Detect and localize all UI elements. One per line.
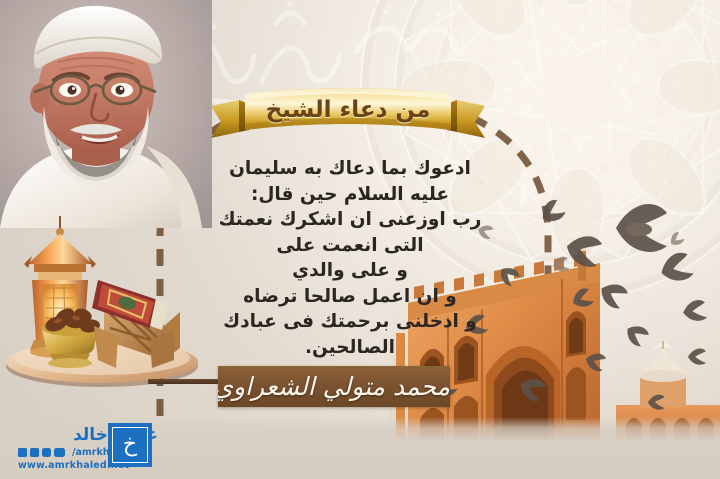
- signature-plaque: محمد متولي الشعراوي: [218, 366, 450, 407]
- youtube-icon[interactable]: [54, 448, 65, 457]
- dua-line: و على والدي: [178, 258, 522, 284]
- rosette-petal: [549, 0, 605, 7]
- banner-title: من دعاء الشيخ: [209, 95, 487, 125]
- signature-rule: [148, 379, 218, 384]
- dua-line: الصالحين.: [178, 335, 522, 361]
- lantern-icon: [24, 216, 96, 358]
- dua-text-block: ادعوك بما دعاك به سليمان عليه السلام حين…: [178, 156, 522, 360]
- dates-bowl: [42, 305, 101, 368]
- rosette-ring-4: [480, 0, 670, 180]
- twitter-icon[interactable]: [30, 448, 39, 457]
- dua-line: عليه السلام حين قال:: [178, 182, 522, 208]
- chhatri-dome: [639, 341, 687, 407]
- signature-name: محمد متولي الشعراوي: [218, 369, 450, 405]
- dua-line: و ادخلنى برحمتك فى عبادك: [178, 309, 522, 335]
- title-ribbon-banner: من دعاء الشيخ: [209, 86, 487, 138]
- rosette-petal: [433, 0, 540, 50]
- dua-line: ادعوك بما دعاك به سليمان: [178, 156, 522, 182]
- footer-bar: عمرو خالد /amrkhaled www.amrkhaled.net خ: [0, 417, 720, 479]
- quran-rehal: [92, 280, 180, 368]
- instagram-icon[interactable]: [42, 448, 51, 457]
- rosette-petal: [549, 167, 605, 263]
- ramadan-stilllife: [0, 208, 203, 390]
- rosette-petal: [614, 124, 720, 231]
- dua-line: التى انعمت على: [178, 233, 522, 259]
- dua-line: و ان اعمل صالحا ترضاه: [178, 284, 522, 310]
- poster-canvas: من دعاء الشيخ ادعوك بما دعاك به سليمان ع…: [0, 0, 720, 479]
- logo-inner-border: خ: [112, 427, 148, 463]
- logo-glyph: خ: [123, 434, 137, 456]
- dua-line: رب اوزعنى ان اشكرك نعمتك: [178, 207, 522, 233]
- rosette-petal: [657, 59, 720, 115]
- rosette-petal: [614, 0, 720, 50]
- facebook-icon[interactable]: [18, 448, 27, 457]
- amr-khaled-logo[interactable]: خ: [108, 423, 152, 467]
